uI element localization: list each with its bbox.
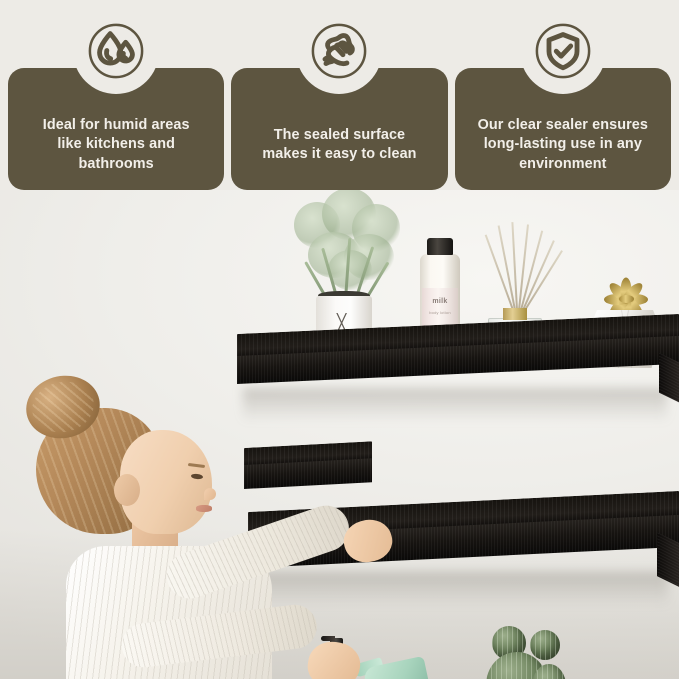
potted-greenery-plant [288,190,408,350]
feature-card-text: The sealed surface makes it easy to clea… [262,126,416,165]
ear [114,474,140,506]
plant-foliage [288,190,408,300]
lotion-cap [427,238,453,255]
water-drops-icon [73,8,159,94]
soap-nozzle [321,636,335,641]
feature-card-text: Ideal for humid areas like kitchens and … [43,116,190,174]
feature-card-row: Ideal for humid areas like kitchens and … [8,0,671,190]
shield-check-icon [520,8,606,94]
spray-bottle [345,630,445,679]
product-photo: milk body lotion [0,190,679,679]
product-feature-image: Ideal for humid areas like kitchens and … [0,0,679,679]
child-model [0,370,322,679]
lips [196,505,212,512]
feature-card-text: Our clear sealer ensures long-lasting us… [478,116,648,174]
cactus-concrete-pot [470,620,580,679]
feature-card-humid-areas: Ideal for humid areas like kitchens and … [8,68,224,190]
feature-card-easy-to-clean: The sealed surface makes it easy to clea… [231,68,447,190]
hand-wiping-cloth-icon [296,8,382,94]
nose [204,488,216,500]
feature-card-clear-sealer: Our clear sealer ensures long-lasting us… [455,68,671,190]
